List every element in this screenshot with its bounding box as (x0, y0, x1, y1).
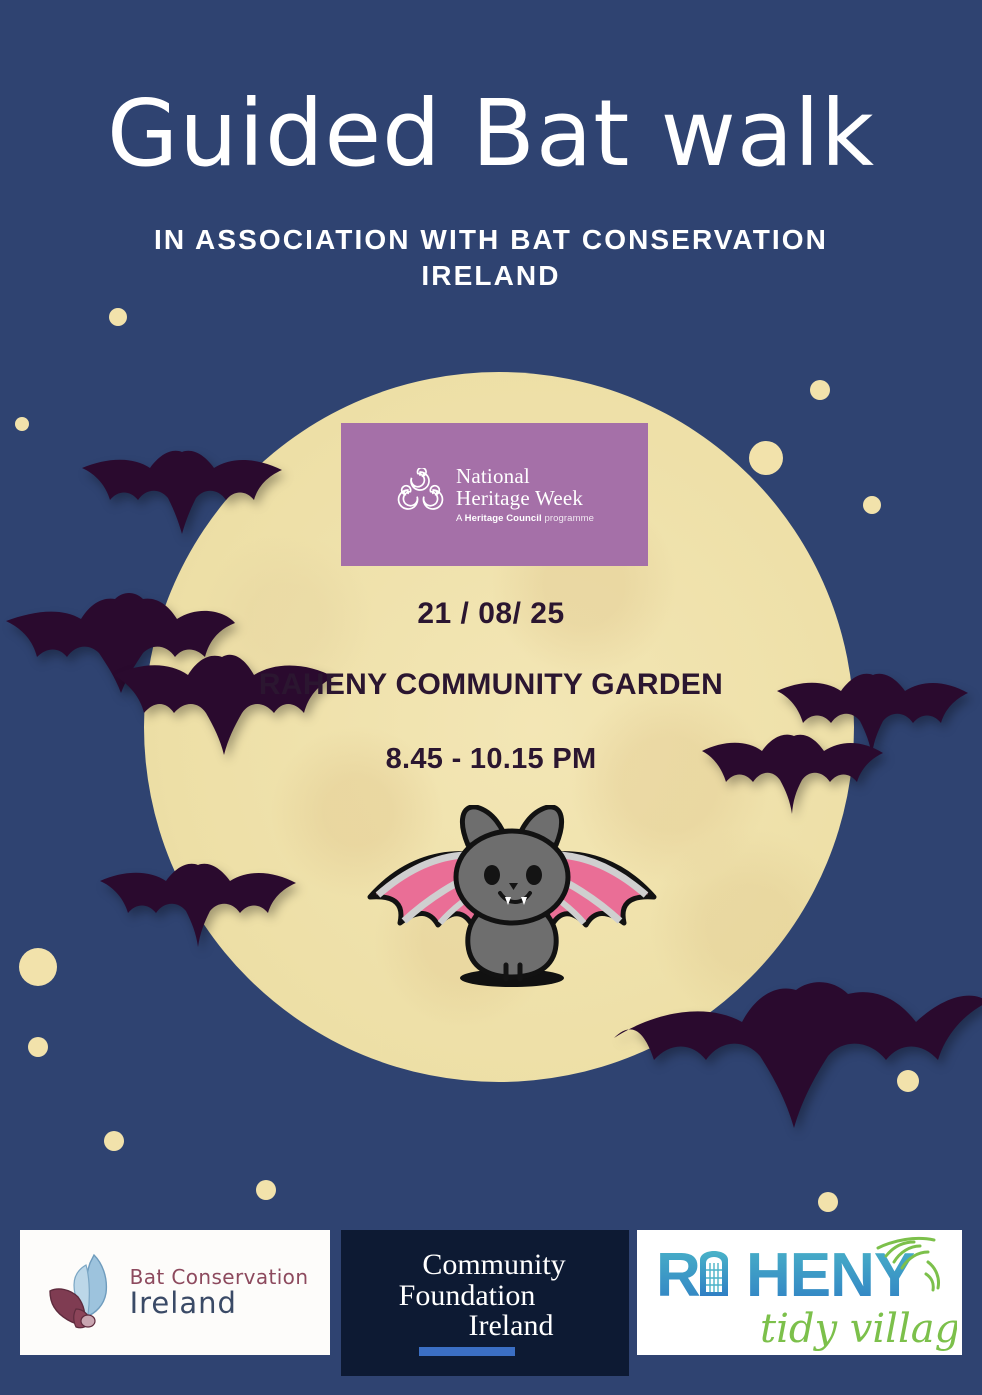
star-dot (19, 948, 57, 986)
cartoon-bat-mascot (360, 805, 660, 990)
star-dot (749, 441, 783, 475)
bat-walk-poster: Guided Bat walk IN ASSOCIATION WITH BAT … (0, 0, 982, 1395)
cfi-line3: Ireland (393, 1311, 629, 1342)
bci-bat-icon (46, 1247, 124, 1338)
rtv-tagline: tidy village (760, 1306, 957, 1352)
cfi-line2: Foundation (341, 1281, 593, 1312)
star-dot (109, 308, 127, 326)
bat-silhouette-mid-right (700, 727, 885, 827)
bat-silhouette-upper-left (80, 440, 285, 550)
logo-bat-conservation-ireland: Bat Conservation Ireland (20, 1230, 330, 1355)
bci-line1: Bat Conservation (130, 1267, 309, 1287)
logo-raheny-tidy-village: R HENY tidy village (637, 1230, 962, 1355)
heritage-logo-line2: Heritage Week (456, 487, 594, 509)
poster-subtitle: IN ASSOCIATION WITH BAT CONSERVATION IRE… (105, 222, 877, 294)
sponsor-logo-strip: Bat Conservation Ireland Community Found… (0, 1230, 982, 1380)
triple-spiral-icon (395, 468, 445, 521)
heritage-logo-tagline: A Heritage Council programme (456, 513, 594, 524)
page-title: Guided Bat walk (0, 88, 982, 180)
event-location: RAHENY COMMUNITY GARDEN (0, 668, 982, 702)
star-dot (863, 496, 881, 514)
event-date: 21 / 08/ 25 (0, 597, 982, 631)
event-time: 8.45 - 10.15 PM (0, 743, 982, 776)
star-dot (256, 1180, 276, 1200)
cfi-line1: Community (359, 1250, 629, 1281)
bat-silhouette-lower-left (98, 855, 298, 963)
star-dot (818, 1192, 838, 1212)
star-dot (810, 380, 830, 400)
bci-line2: Ireland (130, 1289, 309, 1318)
star-dot (28, 1037, 48, 1057)
heritage-logo-line1: National (456, 465, 594, 487)
star-dot (104, 1131, 124, 1151)
rtv-wordmark: R (656, 1241, 700, 1310)
star-dot (15, 417, 29, 431)
national-heritage-week-logo: National Heritage Week A Heritage Counci… (341, 423, 648, 566)
cfi-accent-bar (419, 1347, 515, 1356)
bat-silhouette-large-lower-right (610, 960, 982, 1150)
logo-community-foundation-ireland: Community Foundation Ireland (341, 1230, 629, 1376)
